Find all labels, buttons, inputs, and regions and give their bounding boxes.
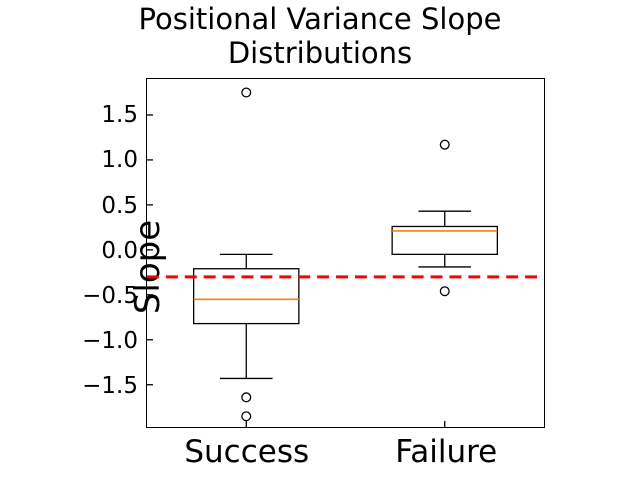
- boxplot-graphics: [147, 79, 544, 427]
- y-tick-label: −0.5: [82, 283, 138, 309]
- outlier-point: [440, 140, 449, 149]
- x-tick-label-failure: Failure: [395, 434, 497, 470]
- y-tick-label: 0.0: [101, 238, 138, 264]
- chart-title: Positional Variance Slope Distributions: [0, 2, 640, 70]
- outlier-point: [242, 393, 251, 402]
- y-tick-label: −1.5: [82, 373, 138, 399]
- y-tick-label: 1.0: [101, 147, 138, 173]
- outlier-point: [242, 88, 251, 97]
- x-tick-label-success: Success: [184, 434, 309, 470]
- y-tick-label: 1.5: [101, 102, 138, 128]
- figure-canvas: Positional Variance Slope Distributions …: [0, 0, 640, 480]
- y-tick-label: −1.0: [82, 328, 138, 354]
- outlier-point: [440, 287, 449, 296]
- outlier-point: [242, 412, 251, 421]
- y-tick-label: 0.5: [101, 193, 138, 219]
- plot-area: Slope 1.51.00.50.0−0.5−1.0−1.5 SuccessFa…: [146, 78, 545, 428]
